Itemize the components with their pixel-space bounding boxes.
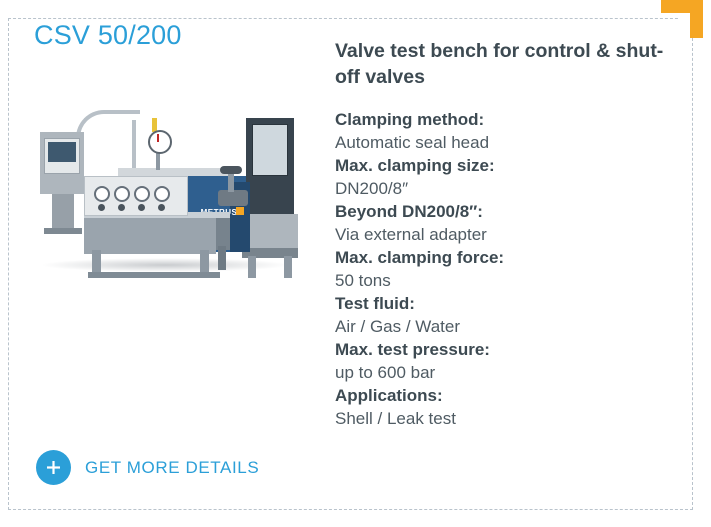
product-image: METRUS [22,90,322,290]
spec-term: Test fluid: [335,292,665,315]
control-dial [94,186,110,202]
bench-base-front [84,218,216,254]
spec-item: Test fluid: Air / Gas / Water [335,292,665,338]
product-card-page: CSV 50/200 METRUS [0,0,711,527]
left-cabinet-screen [48,142,76,162]
spec-item: Max. test pressure: up to 600 bar [335,338,665,384]
corner-bracket-notch [679,13,690,24]
pressure-gauge [148,130,172,154]
right-cabinet-leg-left [248,256,256,278]
pipe-curve [76,110,140,148]
spec-term: Max. clamping force: [335,246,665,269]
control-knob [118,204,125,211]
spec-term: Max. test pressure: [335,338,665,361]
product-headline: Valve test bench for control & shut-off … [335,38,665,90]
spec-item: Max. clamping size: DN200/8″ [335,154,665,200]
spec-term: Beyond DN200/8″: [335,200,665,223]
spec-value: Shell / Leak test [335,407,665,430]
plus-icon[interactable] [36,450,71,485]
spec-value: Via external adapter [335,223,665,246]
get-more-details-label: GET MORE DETAILS [85,458,259,478]
gauge-needle [157,134,159,142]
spec-item: Clamping method: Automatic seal head [335,108,665,154]
corner-bracket-vertical [690,0,703,38]
control-knob [98,204,105,211]
left-column: CSV 50/200 [24,20,314,51]
control-knob [158,204,165,211]
control-dial [114,186,130,202]
right-cabinet-leg-right [284,256,292,278]
spec-value: Air / Gas / Water [335,315,665,338]
page-title: CSV 50/200 [24,20,314,51]
spec-value: up to 600 bar [335,361,665,384]
right-cabinet-window [252,124,288,176]
left-cabinet-base [44,228,82,234]
left-cabinet-leg [52,194,74,230]
get-more-details-link[interactable]: GET MORE DETAILS [36,450,259,485]
corner-bracket-decoration [661,0,703,38]
spec-item: Beyond DN200/8″: Via external adapter [335,200,665,246]
specification-list: Clamping method: Automatic seal head Max… [335,108,665,430]
valve-body [218,190,248,206]
control-dial [134,186,150,202]
bench-rail [88,272,220,278]
spec-value: Automatic seal head [335,131,665,154]
bench-leg-back [218,246,226,270]
spec-value: DN200/8″ [335,177,665,200]
right-column: Valve test bench for control & shut-off … [335,38,665,430]
spec-item: Applications: Shell / Leak test [335,384,665,430]
brand-square-icon [236,207,244,215]
spec-term: Applications: [335,384,665,407]
control-dial [154,186,170,202]
spec-term: Max. clamping size: [335,154,665,177]
valve-stem [228,174,234,192]
control-knob [138,204,145,211]
spec-value: 50 tons [335,269,665,292]
valve-wheel [220,166,242,174]
pipe-vertical [132,120,136,170]
spec-item: Max. clamping force: 50 tons [335,246,665,292]
machine-illustration: METRUS [22,90,322,290]
spec-term: Clamping method: [335,108,665,131]
